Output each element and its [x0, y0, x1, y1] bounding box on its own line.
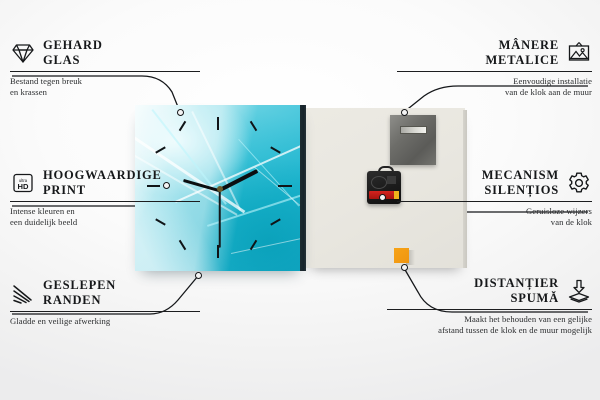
feature-title-line2: PRINT: [43, 183, 162, 198]
feature-title: GEHARD GLAS: [43, 38, 103, 67]
feature-subtitle-line1: Gladde en veilige afwerking: [10, 316, 200, 327]
feature-divider: [10, 201, 200, 202]
feature-mecanism-silentios: MECANISM SILENȚIOS Geruisloze wijzers va…: [397, 168, 592, 229]
mechanism-dial-detail: [371, 176, 387, 189]
feature-divider: [397, 201, 592, 202]
feature-title: GESLEPEN RANDEN: [43, 278, 116, 307]
feature-subtitle-line2: van de klok aan de muur: [397, 87, 592, 98]
feature-subtitle-line2: afstand tussen de klok en de muur mogeli…: [387, 325, 592, 336]
feature-subtitle: Intense kleuren en een duidelijk beeld: [10, 206, 200, 229]
feature-title: MECANISM SILENȚIOS: [397, 168, 559, 197]
feature-title-line1: HOOGWAARDIGE: [43, 168, 162, 183]
hanger-plate-slot: [400, 126, 427, 134]
connector-dot-gehard-glas: [177, 109, 184, 116]
feature-geslepen-randen: GESLEPEN RANDEN Gladde en veilige afwerk…: [10, 278, 200, 327]
feature-divider: [10, 71, 200, 72]
feature-title-line2: GLAS: [43, 53, 103, 68]
feature-hoogwaardige-print: ultra HD HOOGWAARDIGE PRINT Intense kleu…: [10, 168, 200, 229]
feature-title-line2: METALICE: [397, 53, 559, 68]
feature-title-line2: SILENȚIOS: [397, 183, 559, 198]
connector-dot-mecanism-silentios: [379, 194, 386, 201]
feature-subtitle-line1: Eenvoudige installatie: [397, 76, 592, 87]
clock-second-hand: [219, 190, 221, 248]
feature-manere-metalice: MÂNERE METALICE Eenvoudige installatie v…: [397, 38, 592, 99]
feature-subtitle-line2: een duidelijk beeld: [10, 217, 200, 228]
glass-edge: [300, 105, 306, 271]
feature-header: DISTANȚIER SPUMĂ: [387, 276, 592, 305]
feature-subtitle-line2: van de klok: [397, 217, 592, 228]
feature-subtitle: Gladde en veilige afwerking: [10, 316, 200, 327]
infographic-canvas: GEHARD GLAS Bestand tegen breuk en krass…: [0, 0, 600, 400]
feature-subtitle: Bestand tegen breuk en krassen: [10, 76, 200, 99]
hour-marker: [217, 117, 219, 130]
feature-gehard-glas: GEHARD GLAS Bestand tegen breuk en krass…: [10, 38, 200, 99]
feature-header: MÂNERE METALICE: [397, 38, 592, 67]
metal-hanger-plate: [390, 115, 436, 165]
feature-subtitle: Maakt het behouden van een gelijke afsta…: [387, 314, 592, 337]
feature-subtitle-line2: en krassen: [10, 87, 200, 98]
feature-title-line1: DISTANȚIER: [387, 276, 559, 291]
feature-title: DISTANȚIER SPUMĂ: [387, 276, 559, 305]
clock-center-pivot: [217, 186, 223, 192]
connector-dot-manere-metalice: [401, 109, 408, 116]
gear-icon: [566, 170, 592, 196]
feature-title: MÂNERE METALICE: [397, 38, 559, 67]
feature-header: GEHARD GLAS: [10, 38, 200, 67]
picture-frame-icon: [566, 40, 592, 66]
beveled-edges-icon: [10, 280, 36, 306]
feature-divider: [397, 71, 592, 72]
feature-header: GESLEPEN RANDEN: [10, 278, 200, 307]
feature-subtitle: Eenvoudige installatie van de klok aan d…: [397, 76, 592, 99]
feature-divider: [387, 309, 592, 310]
foam-spacer-icon: [566, 278, 592, 304]
connector-dot-distantier-spuma: [401, 264, 408, 271]
mechanism-panel-detail: [387, 176, 396, 184]
diamond-icon: [10, 40, 36, 66]
feature-subtitle-line1: Intense kleuren en: [10, 206, 200, 217]
ultra-hd-icon: ultra HD: [10, 170, 36, 196]
feature-title-line1: MECANISM: [397, 168, 559, 183]
feature-subtitle-line1: Geruisloze wijzers: [397, 206, 592, 217]
feature-title-line1: GEHARD: [43, 38, 103, 53]
feature-title-line1: GESLEPEN: [43, 278, 116, 293]
feature-subtitle-line1: Bestand tegen breuk: [10, 76, 200, 87]
feature-divider: [10, 311, 200, 312]
svg-text:HD: HD: [18, 182, 29, 191]
feature-title-line2: RANDEN: [43, 293, 116, 308]
feature-subtitle-line1: Maakt het behouden van een gelijke: [387, 314, 592, 325]
feature-title-line2: SPUMĂ: [387, 291, 559, 306]
feature-title: HOOGWAARDIGE PRINT: [43, 168, 162, 197]
feature-header: MECANISM SILENȚIOS: [397, 168, 592, 197]
orange-foam-spacer: [394, 248, 409, 263]
feature-title-line1: MÂNERE: [397, 38, 559, 53]
feature-distantier-spuma: DISTANȚIER SPUMĂ Maakt het behouden van …: [387, 276, 592, 337]
feature-header: ultra HD HOOGWAARDIGE PRINT: [10, 168, 200, 197]
feature-subtitle: Geruisloze wijzers van de klok: [397, 206, 592, 229]
hour-marker: [278, 185, 292, 187]
